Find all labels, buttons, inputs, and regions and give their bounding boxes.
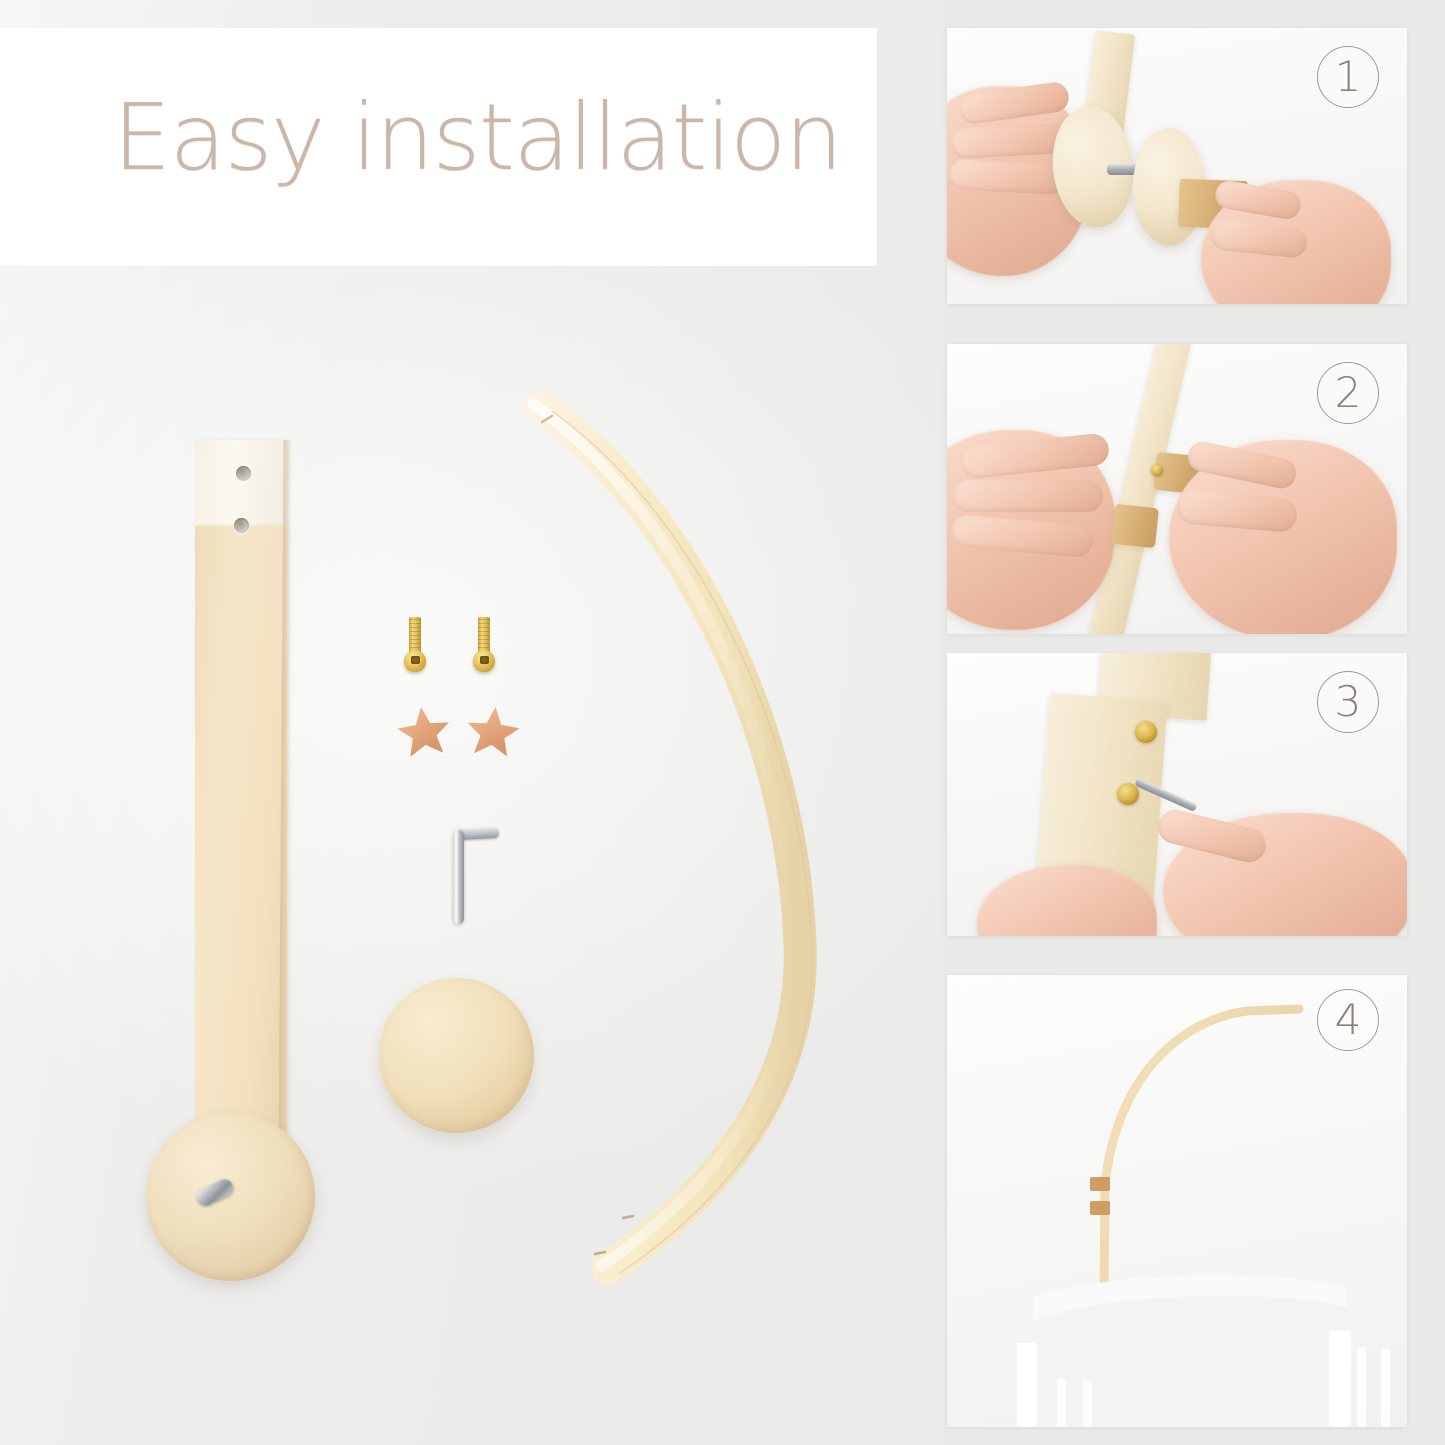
- finger: [953, 480, 1103, 512]
- post-screw-hole-lower: [234, 518, 249, 533]
- curved-arm-svg: [500, 382, 870, 1282]
- screw-threads: [478, 619, 490, 653]
- post-top-section: [195, 440, 287, 528]
- finger: [950, 123, 1069, 159]
- infographic-stage: Easy installation: [0, 0, 1445, 1445]
- screw-hex-socket: [411, 656, 420, 664]
- crib-post-left: [1017, 1343, 1037, 1427]
- step-number-badge-4: 4: [1317, 989, 1379, 1051]
- page-title: Easy installation: [113, 92, 842, 184]
- post-body-section: [195, 526, 287, 1160]
- step-panel-3[interactable]: 3: [947, 653, 1407, 936]
- step-panel-2[interactable]: 2: [947, 344, 1407, 634]
- screw-hex-socket: [480, 656, 489, 664]
- finger: [948, 159, 1065, 195]
- mount-clip-lower: [1090, 1201, 1110, 1215]
- arm-screw-hole-upper: [623, 1216, 633, 1218]
- mount-clip-upper: [1090, 1177, 1110, 1191]
- part-post-base-disc: [146, 1112, 315, 1281]
- crib-slat: [1057, 1379, 1066, 1427]
- crib-slat: [1357, 1347, 1366, 1427]
- product-parts-hero: Easy installation: [0, 0, 940, 1445]
- step-number-badge-2: 2: [1317, 362, 1379, 424]
- crib-slat: [1083, 1381, 1092, 1427]
- star-knob-icon: [422, 1012, 492, 1080]
- star-clip-lower: [1111, 504, 1159, 548]
- part-allen-key: [447, 812, 501, 924]
- crib-post-right: [1329, 1331, 1351, 1427]
- part-hex-screw-left: [404, 617, 426, 673]
- curved-arm-shape: [540, 406, 800, 1268]
- post-screw-hole-upper: [236, 466, 251, 481]
- part-star-clip-left: [395, 704, 453, 760]
- base-disc-metal-pin: [194, 1177, 236, 1209]
- part-vertical-post: [189, 440, 309, 1160]
- step-panel-1[interactable]: 1: [947, 28, 1407, 304]
- step-number-badge-3: 3: [1317, 671, 1379, 733]
- brass-screw-head: [1151, 464, 1163, 476]
- brass-screw-upper: [1135, 721, 1157, 743]
- crib-slat: [1381, 1349, 1390, 1427]
- allen-key-long-arm: [453, 830, 464, 924]
- brass-screw-lower: [1117, 783, 1139, 805]
- installation-steps: 1 2 3: [947, 0, 1445, 1445]
- part-curved-arm: [500, 382, 870, 1282]
- step-panel-4[interactable]: 4: [947, 975, 1407, 1427]
- screw-threads: [409, 619, 421, 653]
- part-hex-screw-right: [473, 617, 495, 673]
- step-number-badge-1: 1: [1317, 46, 1379, 108]
